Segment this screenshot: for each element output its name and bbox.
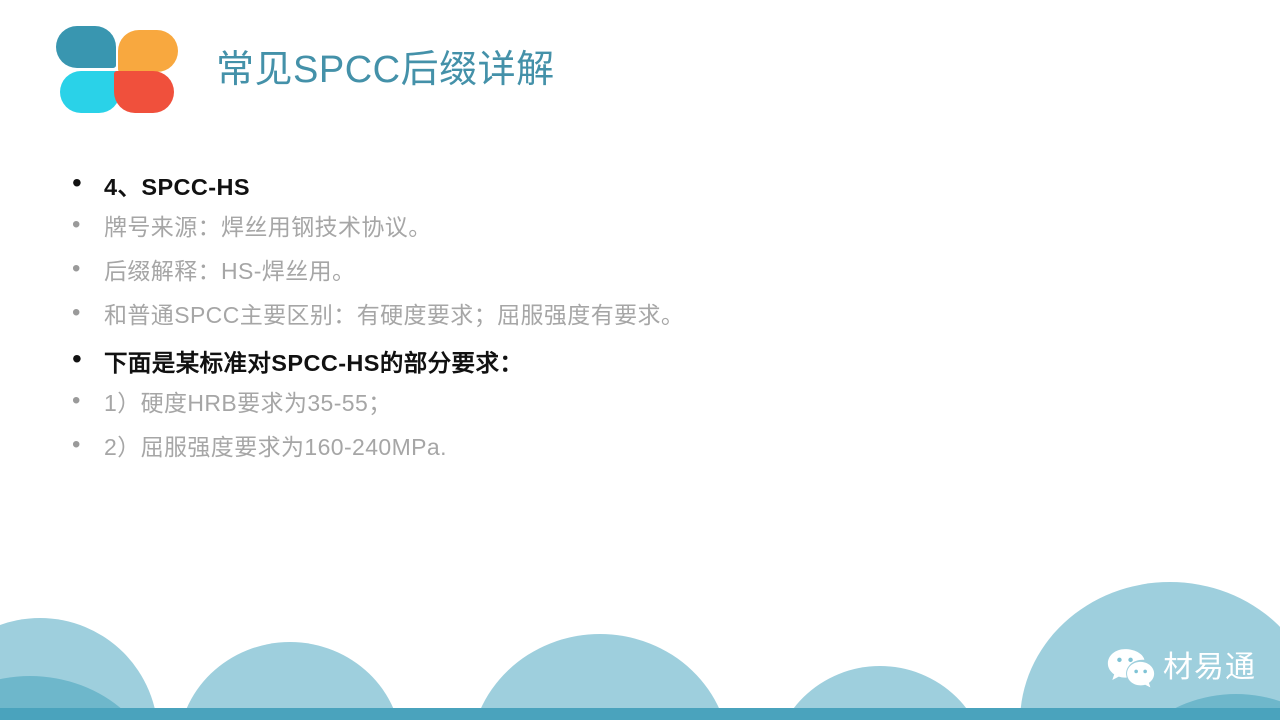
list-item-label: 牌号来源：焊丝用钢技术协议。 (104, 216, 432, 239)
list-item-label: 2）屈服强度要求为160-240MPa. (104, 436, 447, 459)
bullet-marker-icon: • (72, 169, 104, 197)
list-item-label: 后缀解释：HS-焊丝用。 (104, 260, 355, 283)
list-item: • 1）硬度HRB要求为35-55； (72, 392, 1192, 436)
list-item-label: 4、SPCC-HS (104, 176, 250, 200)
bullet-marker-icon: • (72, 257, 104, 281)
bottom-wave-hills (0, 540, 1280, 720)
list-item: • 和普通SPCC主要区别：有硬度要求；屈服强度有要求。 (72, 304, 1192, 348)
watermark-label: 材易通 (1163, 653, 1256, 683)
wave-layer-back (0, 582, 1280, 720)
list-item-label: 下面是某标准对SPCC-HS的部分要求： (104, 352, 523, 376)
wechat-icon (1107, 647, 1155, 689)
list-item: • 后缀解释：HS-焊丝用。 (72, 260, 1192, 304)
bullet-marker-icon: • (72, 345, 104, 373)
logo-petal-bottom-right-icon (114, 71, 174, 113)
slide-header: 常见SPCC后缀详解 (56, 24, 555, 116)
list-item: • 4、SPCC-HS (72, 172, 1192, 216)
bullet-marker-icon: • (72, 433, 104, 457)
list-item-label: 和普通SPCC主要区别：有硬度要求；屈服强度有要求。 (104, 304, 684, 327)
bullet-marker-icon: • (72, 389, 104, 413)
bullet-marker-icon: • (72, 213, 104, 237)
bullet-list: • 4、SPCC-HS • 牌号来源：焊丝用钢技术协议。 • 后缀解释：HS-焊… (72, 172, 1192, 480)
list-item-label: 1）硬度HRB要求为35-55； (104, 392, 392, 415)
logo-petal-bottom-left-icon (60, 71, 120, 113)
list-item: • 下面是某标准对SPCC-HS的部分要求： (72, 348, 1192, 392)
logo-petal-top-right-icon (118, 30, 178, 72)
bullet-marker-icon: • (72, 301, 104, 325)
list-item: • 牌号来源：焊丝用钢技术协议。 (72, 216, 1192, 260)
wechat-watermark: 材易通 (1107, 644, 1256, 692)
four-petal-flower-logo (56, 26, 180, 114)
logo-petal-top-left-icon (56, 26, 116, 68)
list-item: • 2）屈服强度要求为160-240MPa. (72, 436, 1192, 480)
slide-canvas: 常见SPCC后缀详解 • 4、SPCC-HS • 牌号来源：焊丝用钢技术协议。 … (0, 0, 1280, 720)
page-title: 常见SPCC后缀详解 (216, 51, 555, 89)
wave-base-bar (0, 708, 1280, 720)
